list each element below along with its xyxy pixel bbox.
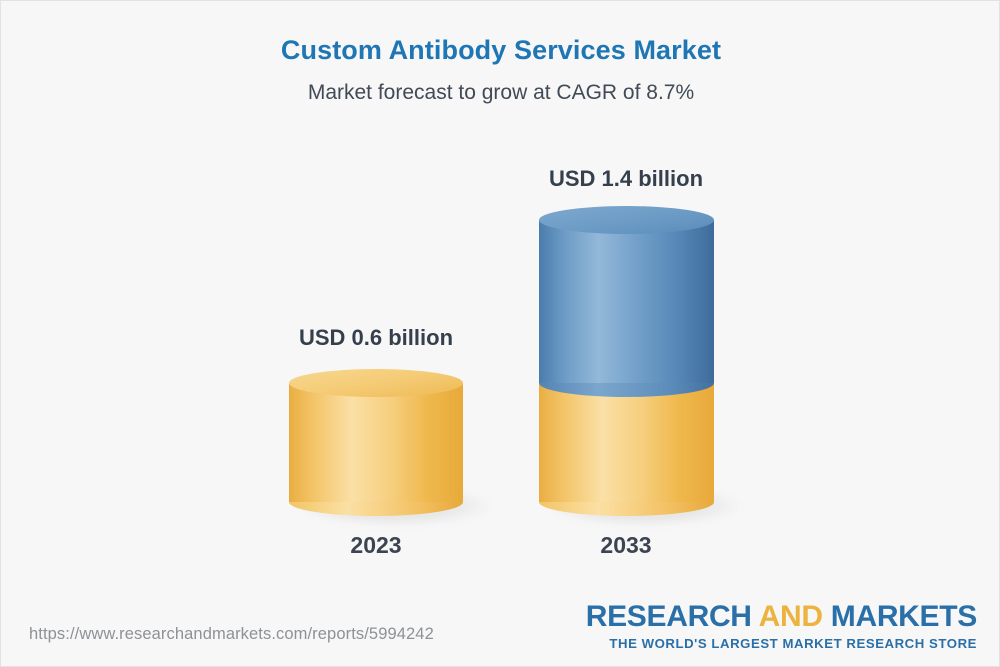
bar-value-label-2033: USD 1.4 billion <box>466 166 786 192</box>
brand-wordmark: RESEARCH AND MARKETS <box>586 602 977 632</box>
cylinder-body-2023 <box>289 383 463 502</box>
bar-cylinder-2023[interactable] <box>289 369 463 513</box>
bar-cylinder-segment-growth-2033[interactable] <box>539 206 714 397</box>
brand-tagline: THE WORLD'S LARGEST MARKET RESEARCH STOR… <box>586 637 977 650</box>
brand-logo[interactable]: RESEARCH AND MARKETS THE WORLD'S LARGEST… <box>586 602 977 650</box>
brand-word-research: RESEARCH <box>586 600 752 633</box>
bar-category-label-2033: 2033 <box>466 532 786 559</box>
cylinder-top-cap-2023 <box>289 369 463 397</box>
cylinder-top-cap-2033 <box>539 206 714 234</box>
bar-value-label-2023: USD 0.6 billion <box>216 325 536 351</box>
brand-word-and: AND <box>759 600 823 633</box>
market-forecast-infographic: Custom Antibody Services Market Market f… <box>0 0 1000 667</box>
cylinder-body-growth-2033 <box>539 220 714 383</box>
brand-word-markets: MARKETS <box>831 600 977 633</box>
chart-plot-area: USD 0.6 billion 2023 USD 1.4 billion <box>1 1 1000 667</box>
report-url[interactable]: https://www.researchandmarkets.com/repor… <box>29 625 434 644</box>
